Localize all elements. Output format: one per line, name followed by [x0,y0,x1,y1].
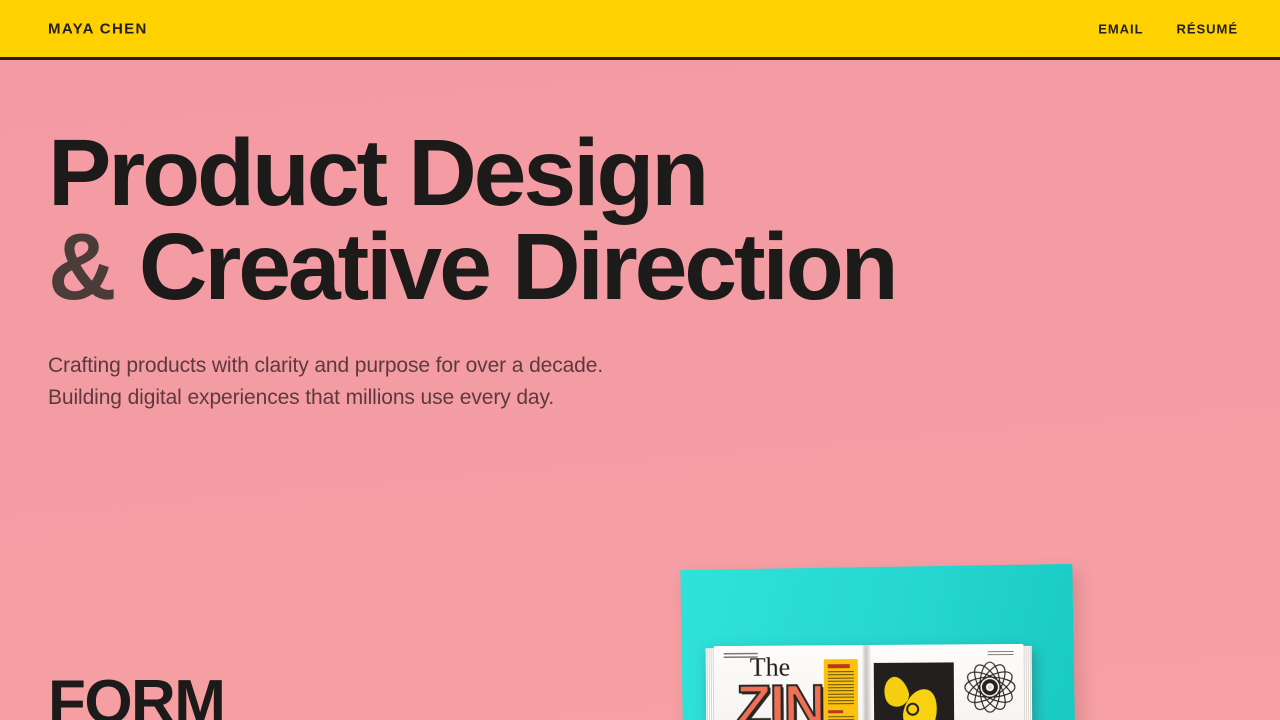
page-root: MAYA CHEN EMAIL RÉSUMÉ Product Design & … [0,0,1280,720]
hero-photo-magazine: The ZIN [658,548,1098,720]
hero-section: Product Design & Creative Direction Craf… [48,126,896,414]
sidebar-body-text-icon [828,671,854,705]
page-stack-right-icon [1023,646,1033,720]
brand-logo[interactable]: MAYA CHEN [48,20,148,37]
section-label-form: FORM [48,672,224,720]
subhead-line-1: Crafting products with clarity and purpo… [48,350,896,382]
sidebar-heading-icon [828,664,850,668]
hero-headline: Product Design & Creative Direction [48,126,896,314]
magazine-gutter-shadow [862,645,872,720]
headline-ampersand: & [48,214,116,320]
subhead-line-2: Building digital experiences that millio… [48,382,896,414]
nav-link-email[interactable]: EMAIL [1098,21,1143,36]
nav-link-resume[interactable]: RÉSUMÉ [1177,21,1238,36]
open-magazine: The ZIN [714,644,1025,720]
magazine-right-page [866,644,1025,720]
folio-text-icon [988,651,1014,657]
site-header: MAYA CHEN EMAIL RÉSUMÉ [0,0,1280,60]
headline-line-1: Product Design [48,126,896,220]
sidebar-body-text-2-icon [828,716,854,720]
yellow-sidebar-column [824,659,859,720]
black-illustration-panel [874,662,955,720]
atom-diagram-icon [963,660,1017,714]
hero-subhead: Crafting products with clarity and purpo… [48,350,896,414]
primary-nav: EMAIL RÉSUMÉ [1098,21,1238,36]
sidebar-heading-2-icon [828,710,843,713]
magazine-left-page: The ZIN [714,645,867,720]
magazine-zin-word: ZIN [736,677,824,720]
headline-line-2: & Creative Direction [48,220,896,314]
headline-line-2-text: Creative Direction [116,214,896,320]
